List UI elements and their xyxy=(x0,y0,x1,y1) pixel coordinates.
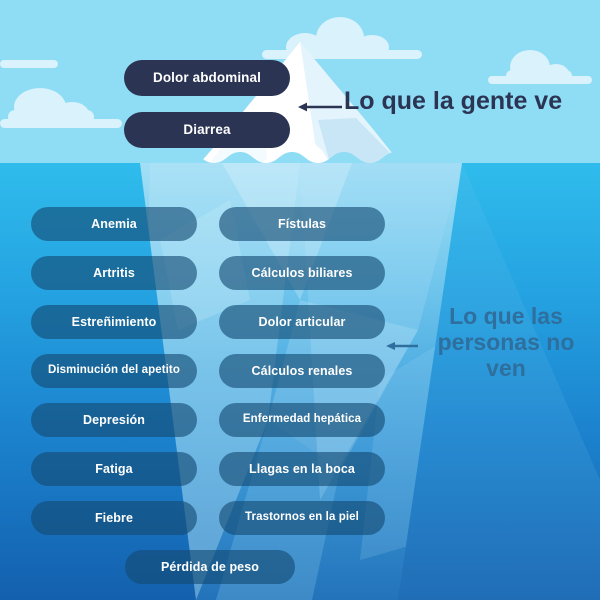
above-water-annotation: Lo que la gente ve xyxy=(344,88,592,114)
below-water-annotation-line2: personas no xyxy=(418,329,594,355)
hidden-symptom-pill[interactable]: Cálculos biliares xyxy=(219,256,385,290)
left-arrow-icon xyxy=(386,340,418,352)
hidden-symptom-pill[interactable]: Cálculos renales xyxy=(219,354,385,388)
hidden-symptom-pill[interactable]: Fístulas xyxy=(219,207,385,241)
below-water-annotation: Lo que las personas no ven xyxy=(418,303,594,381)
below-water-annotation-line1: Lo que las xyxy=(418,303,594,329)
hidden-symptom-pill[interactable]: Estreñimiento xyxy=(31,305,197,339)
hidden-symptom-pill[interactable]: Artritis xyxy=(31,256,197,290)
below-water-annotation-line3: ven xyxy=(418,355,594,381)
hidden-symptom-pill[interactable]: Anemia xyxy=(31,207,197,241)
hidden-symptom-pill[interactable]: Depresión xyxy=(31,403,197,437)
hidden-symptom-pill[interactable]: Dolor articular xyxy=(219,305,385,339)
hidden-symptom-pill[interactable]: Enfermedad hepática xyxy=(219,403,385,437)
visible-symptom-pill[interactable]: Diarrea xyxy=(124,112,290,148)
hidden-symptom-pill[interactable]: Llagas en la boca xyxy=(219,452,385,486)
hidden-symptom-pill[interactable]: Pérdida de peso xyxy=(125,550,295,584)
visible-symptom-pill[interactable]: Dolor abdominal xyxy=(124,60,290,96)
hidden-symptom-pill[interactable]: Trastornos en la piel xyxy=(219,501,385,535)
hidden-symptom-pill[interactable]: Fiebre xyxy=(31,501,197,535)
hidden-symptom-pill[interactable]: Disminución del apetito xyxy=(31,354,197,388)
infographic-canvas: Dolor abdominal Diarrea Lo que la gente … xyxy=(0,0,600,600)
hidden-symptom-pill[interactable]: Fatiga xyxy=(31,452,197,486)
left-arrow-icon xyxy=(298,101,342,113)
